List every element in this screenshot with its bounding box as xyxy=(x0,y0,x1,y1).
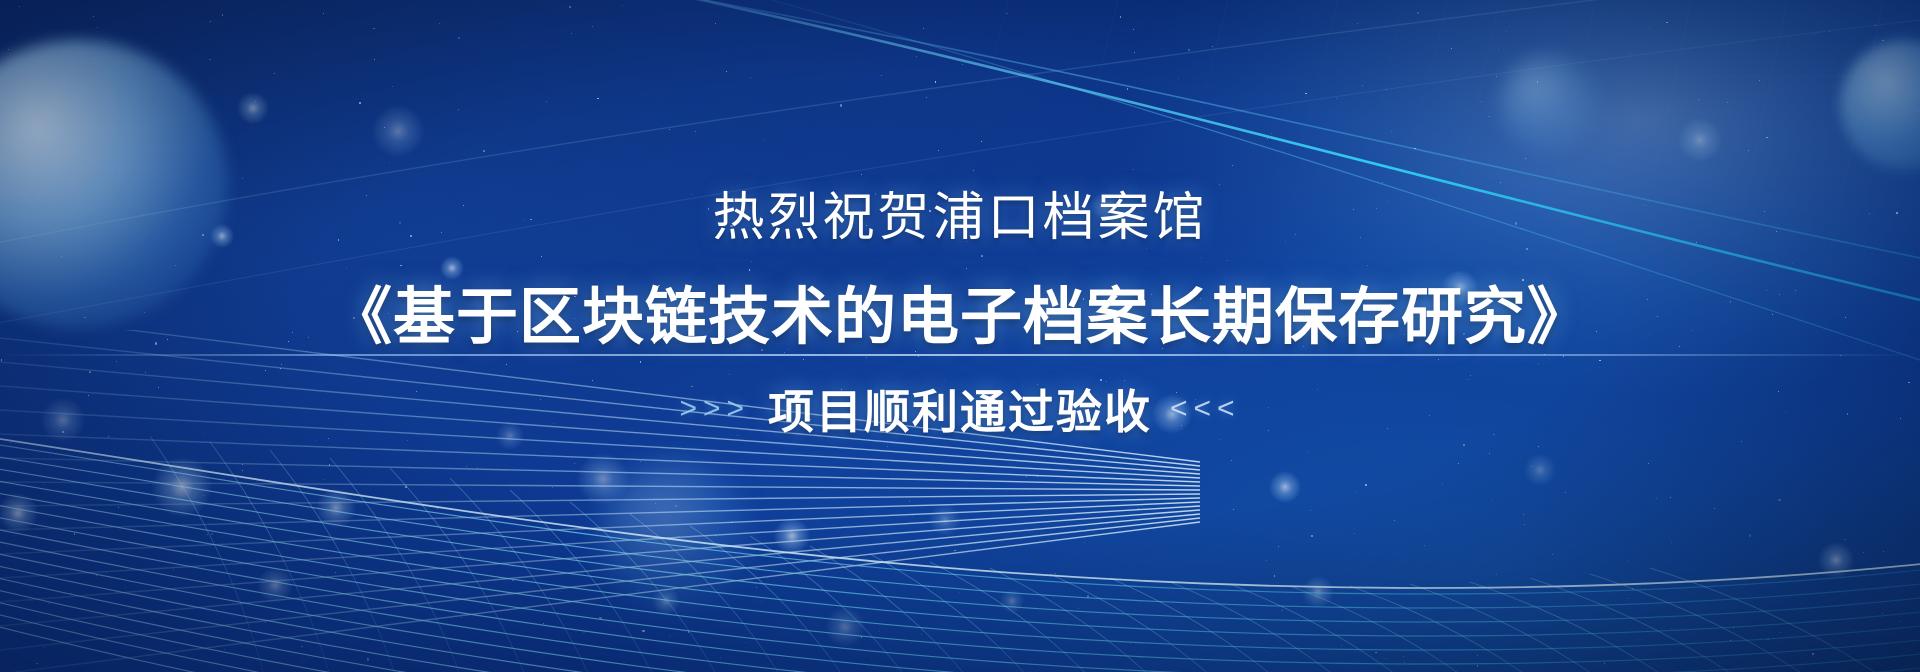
banner-headline: 热烈祝贺浦口档案馆 xyxy=(712,175,1207,250)
banner-status-row: >>> 项目顺利通过验收 <<< xyxy=(679,376,1240,442)
chevrons-right-icon: <<< xyxy=(1170,392,1241,426)
chevrons-left-icon: >>> xyxy=(679,392,750,426)
banner-status-text: 项目顺利通过验收 xyxy=(768,376,1152,442)
banner-project-title: 《基于区块链技术的电子档案长期保存研究》 xyxy=(330,266,1590,356)
banner-content: 热烈祝贺浦口档案馆 《基于区块链技术的电子档案长期保存研究》 >>> 项目顺利通… xyxy=(0,0,1920,672)
celebration-banner: 热烈祝贺浦口档案馆 《基于区块链技术的电子档案长期保存研究》 >>> 项目顺利通… xyxy=(0,0,1920,672)
